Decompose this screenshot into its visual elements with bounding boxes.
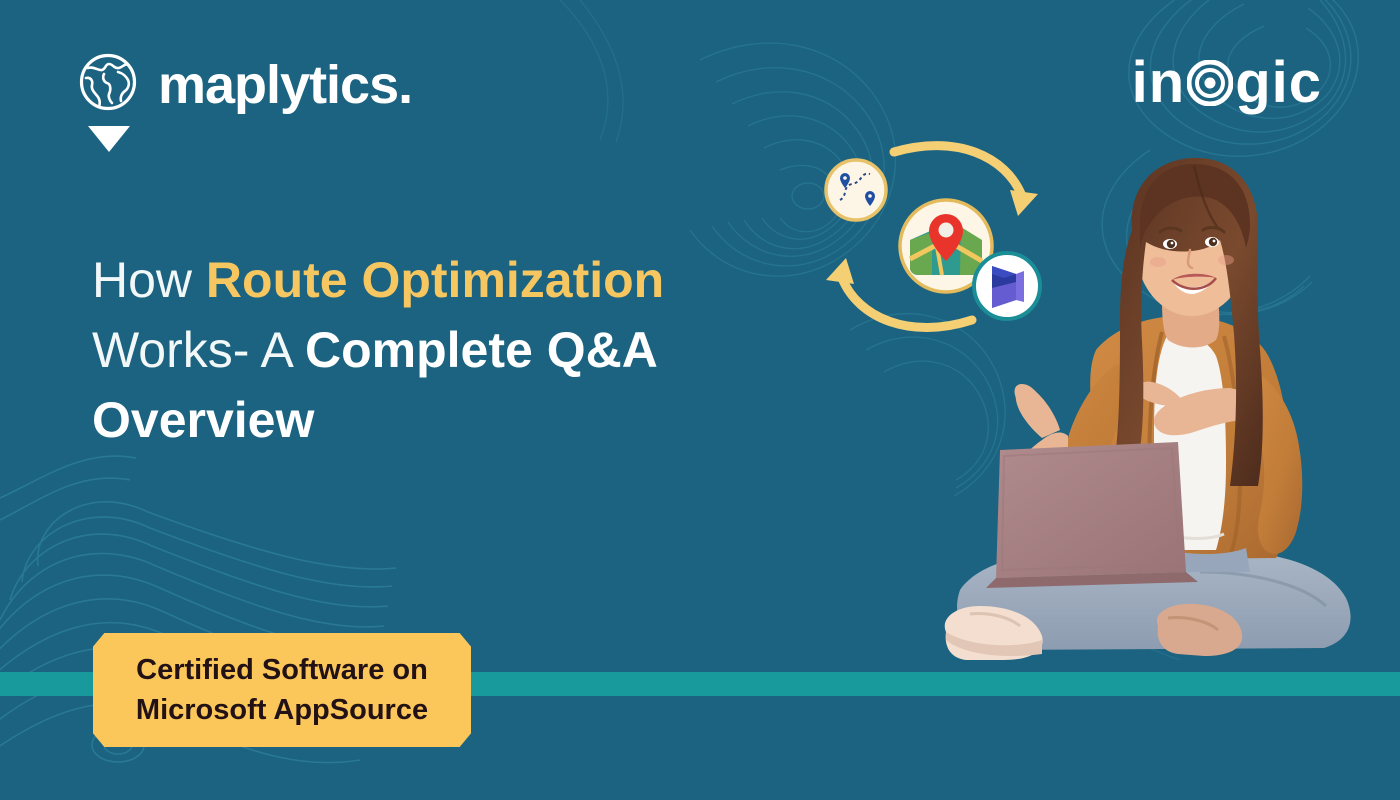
headline-part-complete-qa: Complete Q&A [305,322,658,378]
inogic-logo[interactable]: in gic [1132,52,1322,114]
marketing-banner: maplytics. in gic How Route Optimization… [0,0,1400,800]
globe-icon [78,52,138,112]
headline-part-how: How [92,252,206,308]
route-path-circle-icon [826,160,886,220]
inogic-wordmark-suffix: gic [1235,52,1322,114]
page-title: How Route Optimization Works- A Complete… [92,245,772,455]
map-pin-triangle-icon [88,126,130,152]
headline-line-3: Overview [92,385,772,455]
headline-line-2: Works- A Complete Q&A [92,315,772,385]
maplytics-mark [78,52,140,152]
maplytics-wordmark: maplytics. [158,54,412,116]
bullseye-target-icon [1187,60,1233,106]
badge-line-1: Certified Software on [136,650,428,690]
dynamics-365-logo-icon [974,253,1040,319]
badge-line-2: Microsoft AppSource [136,690,428,730]
headline-part-route-optimization: Route Optimization [206,252,664,308]
route-optimization-graphic [806,128,1076,358]
headline-part-overview: Overview [92,392,314,448]
headline-part-works: Works- A [92,322,305,378]
certification-badge[interactable]: Certified Software on Microsoft AppSourc… [93,633,471,747]
headline-line-1: How Route Optimization [92,245,772,315]
inogic-wordmark-prefix: in [1132,52,1186,114]
maplytics-logo[interactable]: maplytics. [78,52,412,152]
